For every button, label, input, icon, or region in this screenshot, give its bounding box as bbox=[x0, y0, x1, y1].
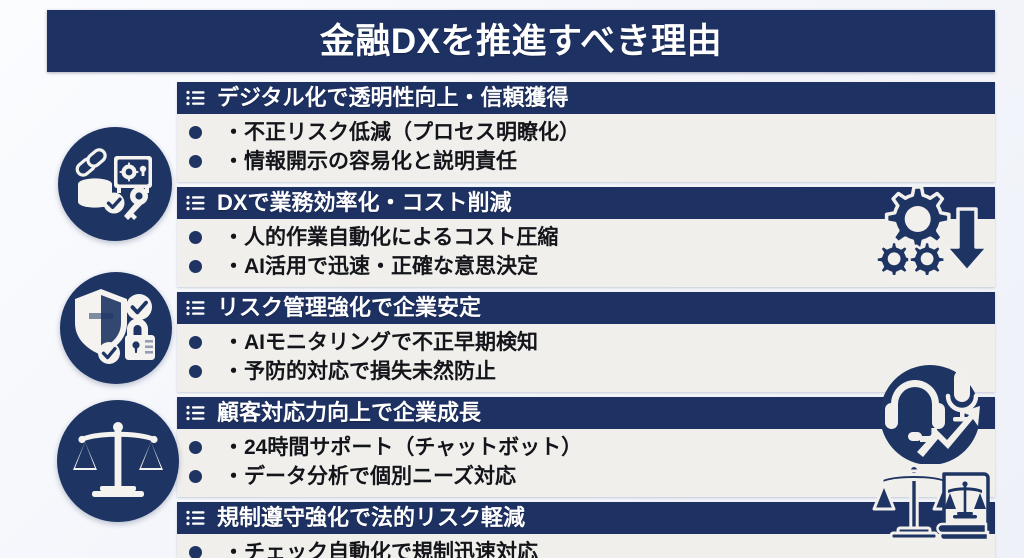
bullet-dot-icon bbox=[189, 365, 202, 378]
bullet-text: ・AI活用で迅速・正確な意思決定 bbox=[223, 256, 538, 277]
bullet-dot-icon bbox=[189, 546, 202, 558]
poster-title-bar: 金融DXを推進すべき理由 bbox=[47, 10, 995, 72]
scales-of-justice-icon bbox=[72, 418, 164, 504]
bullet-text: ・予防的対応で損失未然防止 bbox=[223, 361, 496, 382]
list-icon bbox=[186, 300, 205, 316]
section-card: 規制遵守強化で法的リスク軽減 ・チェック自動化で規制迅速対応 ・行政指導や罰則リ… bbox=[177, 502, 995, 558]
bullet-item: ・チェック自動化で規制迅速対応 bbox=[177, 538, 995, 558]
bullet-item: ・情報開示の容易化と説明責任 bbox=[177, 147, 995, 176]
list-icon bbox=[186, 405, 205, 421]
section-body: ・不正リスク低減（プロセス明瞭化） ・情報開示の容易化と説明責任 bbox=[177, 114, 995, 182]
shield-lock-check-icon bbox=[71, 283, 161, 373]
bullet-text: ・人的作業自動化によるコスト圧縮 bbox=[223, 227, 558, 248]
section-header: DXで業務効率化・コスト削減 bbox=[177, 187, 995, 219]
bullet-text: ・24時間サポート（チャットボット） bbox=[223, 437, 582, 458]
bullet-dot-icon bbox=[189, 470, 202, 483]
section-card: リスク管理強化で企業安定 ・AIモニタリングで不正早期検知 ・予防的対応で損失未… bbox=[177, 292, 995, 392]
bullet-dot-icon bbox=[189, 231, 202, 244]
scales-of-justice-badge bbox=[57, 400, 179, 522]
list-icon bbox=[186, 90, 205, 106]
section-header: デジタル化で透明性向上・信頼獲得 bbox=[177, 82, 995, 114]
bullet-dot-icon bbox=[189, 126, 202, 139]
bullet-dot-icon bbox=[189, 441, 202, 454]
section-title: 顧客対応力向上で企業成長 bbox=[217, 402, 481, 424]
section-header: 顧客対応力向上で企業成長 bbox=[177, 397, 995, 429]
section-card: デジタル化で透明性向上・信頼獲得 ・不正リスク低減（プロセス明瞭化） ・情報開示… bbox=[177, 82, 995, 182]
section-card: 顧客対応力向上で企業成長 ・24時間サポート（チャットボット） ・データ分析で個… bbox=[177, 397, 995, 497]
section-header: リスク管理強化で企業安定 bbox=[177, 292, 995, 324]
bullet-item: ・人的作業自動化によるコスト圧縮 bbox=[177, 223, 995, 252]
chain-vault-coins-key-icon bbox=[69, 138, 161, 230]
bullet-item: ・予防的対応で損失未然防止 bbox=[177, 357, 995, 386]
bullet-item: ・不正リスク低減（プロセス明瞭化） bbox=[177, 118, 995, 147]
bullet-text: ・AIモニタリングで不正早期検知 bbox=[223, 332, 538, 353]
section-body: ・24時間サポート（チャットボット） ・データ分析で個別ニーズ対応 bbox=[177, 429, 995, 497]
chain-vault-coins-key-badge bbox=[58, 127, 172, 241]
section-body: ・チェック自動化で規制迅速対応 ・行政指導や罰則リスク回避 bbox=[177, 534, 995, 558]
bullet-dot-icon bbox=[189, 155, 202, 168]
bullet-dot-icon bbox=[189, 336, 202, 349]
bullet-item: ・データ分析で個別ニーズ対応 bbox=[177, 462, 995, 491]
section-title: DXで業務効率化・コスト削減 bbox=[217, 192, 512, 214]
bullet-text: ・不正リスク低減（プロセス明瞭化） bbox=[223, 122, 580, 143]
bullet-item: ・AIモニタリングで不正早期検知 bbox=[177, 328, 995, 357]
bullet-text: ・データ分析で個別ニーズ対応 bbox=[223, 466, 516, 487]
section-title: デジタル化で透明性向上・信頼獲得 bbox=[217, 87, 569, 109]
section-title: 規制遵守強化で法的リスク軽減 bbox=[217, 507, 525, 529]
list-icon bbox=[186, 510, 205, 526]
bullet-item: ・AI活用で迅速・正確な意思決定 bbox=[177, 252, 995, 281]
sections-list: デジタル化で透明性向上・信頼獲得 ・不正リスク低減（プロセス明瞭化） ・情報開示… bbox=[177, 82, 995, 558]
section-header: 規制遵守強化で法的リスク軽減 bbox=[177, 502, 995, 534]
bullet-text: ・情報開示の容易化と説明責任 bbox=[223, 151, 517, 172]
bullet-item: ・24時間サポート（チャットボット） bbox=[177, 433, 995, 462]
section-body: ・AIモニタリングで不正早期検知 ・予防的対応で損失未然防止 bbox=[177, 324, 995, 392]
bullet-dot-icon bbox=[189, 260, 202, 273]
shield-lock-check-badge bbox=[60, 272, 172, 384]
section-card: DXで業務効率化・コスト削減 ・人的作業自動化によるコスト圧縮 ・AI活用で迅速… bbox=[177, 187, 995, 287]
infographic-poster: 金融DXを推進すべき理由 デジタル化で透明性向上・信頼獲得 ・不正リスク bbox=[0, 0, 1024, 558]
list-icon bbox=[186, 195, 205, 211]
page-title: 金融DXを推進すべき理由 bbox=[320, 24, 722, 59]
bullet-text: ・チェック自動化で規制迅速対応 bbox=[223, 542, 538, 558]
section-body: ・人的作業自動化によるコスト圧縮 ・AI活用で迅速・正確な意思決定 bbox=[177, 219, 995, 287]
section-title: リスク管理強化で企業安定 bbox=[217, 297, 481, 319]
